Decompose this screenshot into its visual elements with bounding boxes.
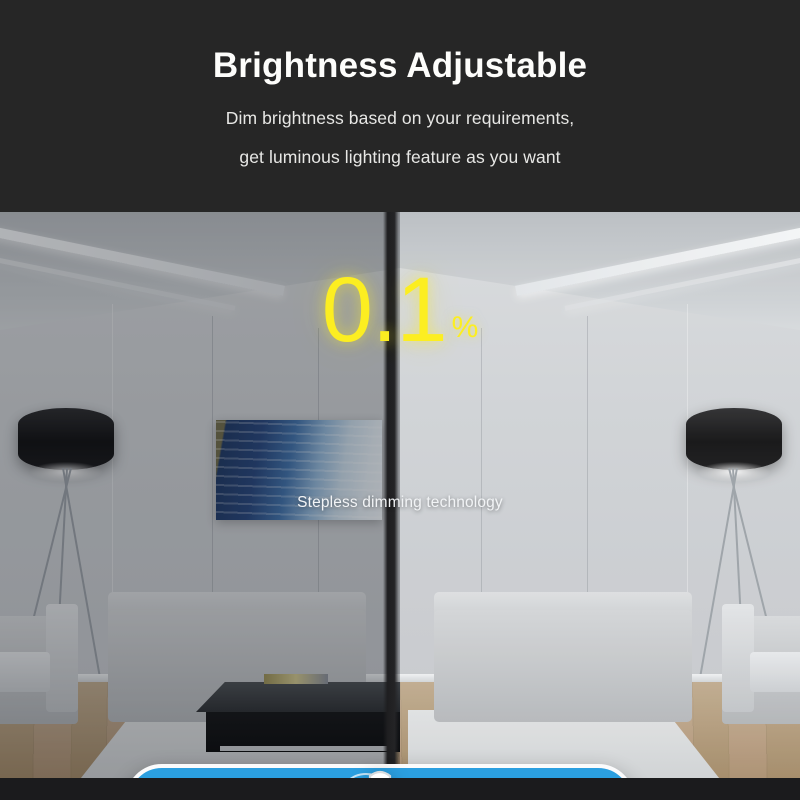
subtitle-line-2: get luminous lighting feature as you wan… xyxy=(0,149,800,167)
floor-lamp-shade xyxy=(18,408,114,470)
wall-artwork xyxy=(216,420,382,520)
dim-room-half xyxy=(0,212,400,800)
header-banner: Brightness Adjustable Dim brightness bas… xyxy=(0,0,800,212)
page-title: Brightness Adjustable xyxy=(0,46,800,86)
sofa xyxy=(434,610,692,722)
armchair-seat xyxy=(0,652,50,692)
armchair-arm xyxy=(46,604,78,712)
subtitle-line-1: Dim brightness based on your requirement… xyxy=(0,110,800,128)
room-photo-stage: 0.1% Stepless dimming technology xyxy=(0,212,800,800)
bright-room-half xyxy=(400,212,800,800)
floor-lamp-shade xyxy=(686,408,782,470)
artwork-texture xyxy=(216,420,382,520)
table-rail xyxy=(220,746,390,751)
center-divider xyxy=(383,212,399,800)
table-magazine xyxy=(264,674,328,684)
coffee-table xyxy=(196,682,400,712)
header-subtitle: Dim brightness based on your requirement… xyxy=(0,110,800,166)
bottom-strip xyxy=(0,778,800,800)
armchair-seat xyxy=(750,652,800,692)
